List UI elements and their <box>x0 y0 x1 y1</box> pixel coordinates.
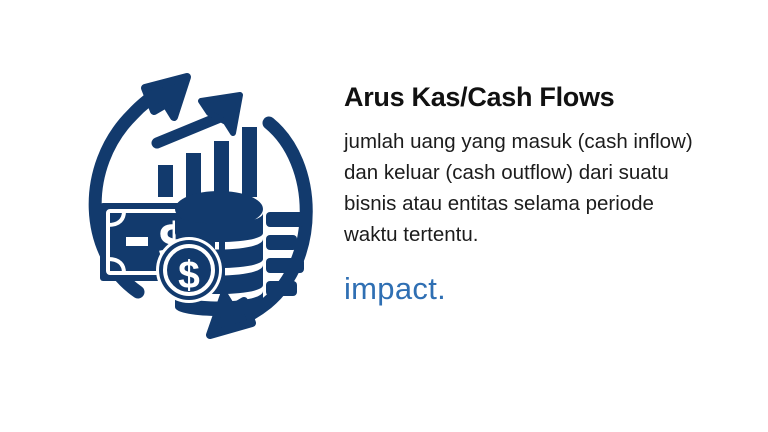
svg-text:$: $ <box>178 254 200 297</box>
cash-flow-infographic-card: $ $ <box>0 0 768 432</box>
cash-flow-icon: $ $ <box>62 55 332 345</box>
impact-logo: impact. <box>344 272 716 306</box>
dollar-coin-icon: $ <box>156 237 222 303</box>
cash-flow-icon-svg: $ $ <box>62 55 332 345</box>
description-text: jumlah uang yang masuk (cash inflow) dan… <box>344 126 704 250</box>
page-title: Arus Kas/Cash Flows <box>344 80 716 114</box>
text-column: Arus Kas/Cash Flows jumlah uang yang mas… <box>344 80 716 306</box>
